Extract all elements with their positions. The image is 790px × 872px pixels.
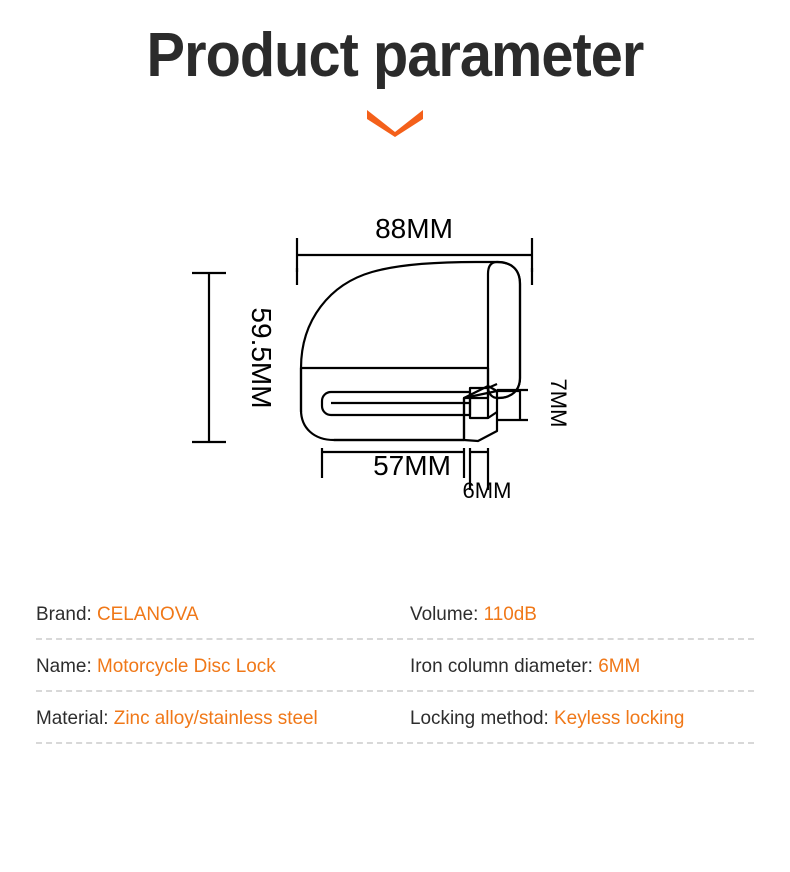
spec-label: Material: xyxy=(36,707,114,729)
spec-label: Brand: xyxy=(36,603,97,625)
spec-cell-name: Name: Motorcycle Disc Lock xyxy=(36,654,399,678)
spec-label: Iron column diameter: xyxy=(410,655,598,677)
dimension-drawing-svg: 88MM 59.5MM 57MM 7MM 6MM xyxy=(0,160,790,560)
spec-label: Locking method: xyxy=(410,707,554,729)
dimension-label-88mm: 88MM xyxy=(375,213,453,244)
specification-table: Brand: CELANOVA Volume: 110dB Name: Moto… xyxy=(36,588,754,744)
row-divider xyxy=(36,742,754,744)
page-title: Product parameter xyxy=(28,18,763,94)
lock-right-face xyxy=(488,262,520,398)
table-row: Material: Zinc alloy/stainless steel Loc… xyxy=(36,692,754,744)
product-dimension-diagram: 88MM 59.5MM 57MM 7MM 6MM xyxy=(0,160,790,560)
spec-value: Zinc alloy/stainless steel xyxy=(114,707,318,729)
spec-label: Volume: xyxy=(410,603,484,625)
spec-cell-brand: Brand: CELANOVA xyxy=(36,602,399,626)
table-row: Brand: CELANOVA Volume: 110dB xyxy=(36,588,754,640)
spec-value: 6MM xyxy=(598,655,640,677)
page-header: Product parameter xyxy=(0,0,790,160)
dimension-59-5mm xyxy=(192,273,226,442)
chevron-container xyxy=(0,108,790,138)
dimension-label-57mm: 57MM xyxy=(373,450,451,481)
spec-cell-volume: Volume: 110dB xyxy=(410,602,744,626)
spec-value: 110dB xyxy=(484,603,537,625)
spec-value: Keyless locking xyxy=(554,707,684,729)
chevron-down-icon xyxy=(365,108,425,138)
dimension-label-6mm: 6MM xyxy=(463,478,512,503)
dimension-label-7mm: 7MM xyxy=(546,379,571,428)
table-row: Name: Motorcycle Disc Lock Iron column d… xyxy=(36,640,754,692)
dimension-label-59-5mm: 59.5MM xyxy=(246,307,277,408)
spec-cell-locking-method: Locking method: Keyless locking xyxy=(410,706,744,730)
spec-label: Name: xyxy=(36,655,97,677)
spec-value: Motorcycle Disc Lock xyxy=(97,655,276,677)
spec-value: CELANOVA xyxy=(97,603,199,625)
spec-cell-iron-column-diameter: Iron column diameter: 6MM xyxy=(410,654,744,678)
spec-cell-material: Material: Zinc alloy/stainless steel xyxy=(36,706,399,730)
